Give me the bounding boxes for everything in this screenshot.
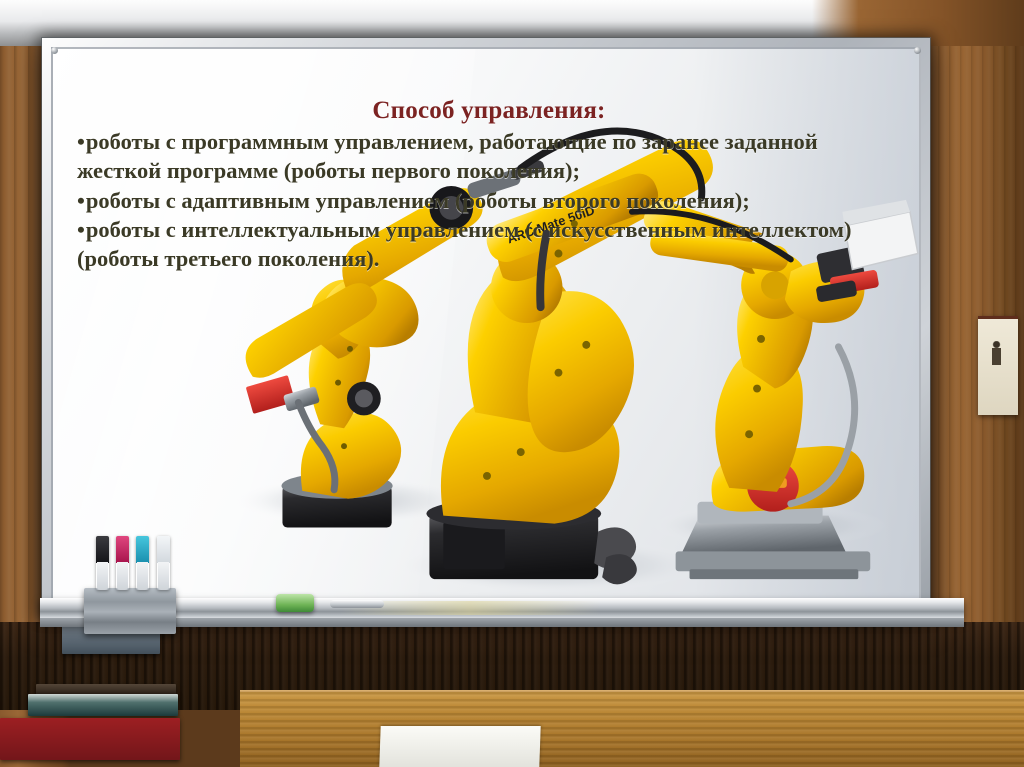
whiteboard-frame: Способ управления: роботы с программным … xyxy=(42,38,930,616)
marker-holder[interactable] xyxy=(84,588,176,634)
marker-cap xyxy=(157,536,170,563)
book-red xyxy=(0,718,180,760)
marker-cap xyxy=(136,536,149,563)
anatomy-poster xyxy=(978,316,1018,415)
marker-white[interactable] xyxy=(157,536,170,590)
slide-text-block: Способ управления: роботы с программным … xyxy=(77,97,901,273)
marker-body xyxy=(158,562,169,590)
desk-light-grain xyxy=(240,692,1024,767)
bullet-item-2: роботы с адаптивным управлением (роботы … xyxy=(77,186,901,215)
marker-magenta[interactable] xyxy=(116,536,129,590)
marker-cap xyxy=(96,536,109,563)
marker-body xyxy=(97,562,108,590)
marker-black[interactable] xyxy=(96,536,109,590)
whiteboard-tray-lip xyxy=(40,618,964,627)
poster-figure-icon xyxy=(992,341,1001,385)
board-eraser[interactable] xyxy=(276,594,314,612)
slide-title: Способ управления: xyxy=(77,97,901,125)
whiteboard-surface: Способ управления: роботы с программным … xyxy=(51,47,921,607)
bullet-item-1: роботы с программным управлением, работа… xyxy=(77,127,901,186)
marker-body xyxy=(137,562,148,590)
paper-sheet xyxy=(379,726,540,767)
marker-body xyxy=(117,562,128,590)
marker-cyan[interactable] xyxy=(136,536,149,590)
slide-bullet-list: роботы с программным управлением, работа… xyxy=(77,127,901,273)
marker-cap xyxy=(116,536,129,563)
bullet-item-3: роботы с интеллектуальным управлением (с… xyxy=(77,215,901,274)
silver-pen[interactable] xyxy=(330,600,384,608)
book-teal xyxy=(28,694,178,716)
classroom-slide: Способ управления: роботы с программным … xyxy=(0,0,1024,767)
